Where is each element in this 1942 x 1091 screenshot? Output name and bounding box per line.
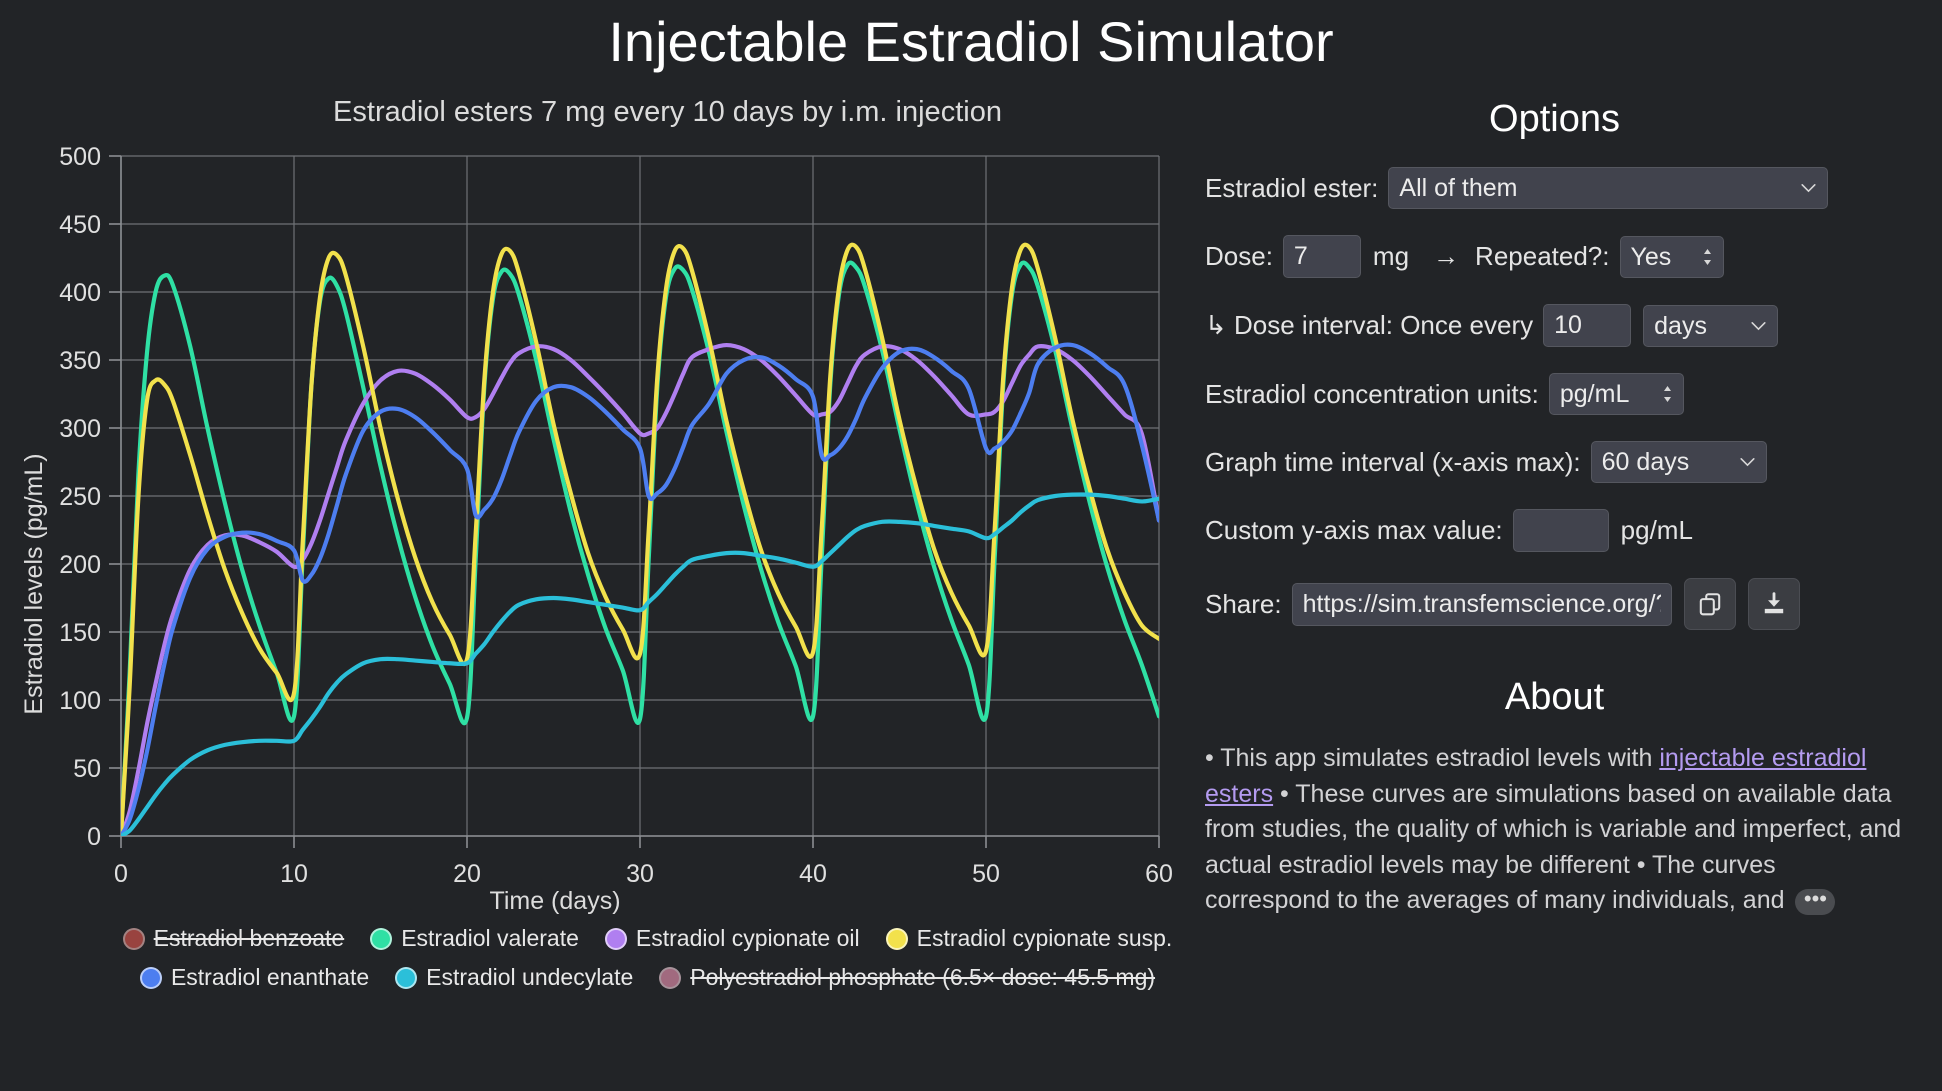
svg-text:20: 20 [453,860,481,888]
svg-text:150: 150 [59,619,101,647]
time-interval-select-wrap: 60 days [1591,441,1767,483]
dose-input[interactable] [1283,235,1361,278]
svg-text:10: 10 [280,860,308,888]
repeated-select[interactable]: Yes [1620,236,1724,278]
custom-ymax-input[interactable] [1513,509,1609,552]
chart-gridlines [121,156,1159,836]
svg-text:300: 300 [59,415,101,443]
x-axis-label: Time (days) [489,887,620,915]
custom-ymax-unit-label: pg/mL [1621,515,1693,546]
download-icon [1761,591,1787,617]
svg-text:50: 50 [73,755,101,783]
chart-title: Estradiol esters 7 mg every 10 days by i… [0,96,1205,129]
estradiol-levels-chart: 0501001502002503003504004505000102030405… [0,129,1205,919]
about-heading: About [1205,676,1904,719]
legend-color-swatch [140,967,162,989]
dose-label: Dose: [1205,241,1273,272]
about-text-part-1: • This app simulates estradiol levels wi… [1205,744,1659,772]
options-column: Options Estradiol ester: All of them Dos… [1205,74,1942,919]
download-image-button[interactable] [1748,578,1800,630]
estradiol-ester-select[interactable]: All of them [1388,167,1828,209]
legend-label: Estradiol cypionate susp. [917,925,1173,952]
interval-unit-select-wrap: days [1643,305,1778,347]
legend-color-swatch [123,928,145,950]
chart-legend: Estradiol benzoateEstradiol valerateEstr… [0,919,1205,991]
option-row-ester: Estradiol ester: All of them [1205,167,1904,209]
legend-item[interactable]: Estradiol undecylate [395,964,633,991]
share-label: Share: [1205,589,1282,620]
legend-color-swatch [659,967,681,989]
legend-label: Estradiol enanthate [171,964,369,991]
copy-icon [1697,591,1723,617]
svg-text:40: 40 [799,860,827,888]
chart-area: 0501001502002503003504004505000102030405… [0,129,1205,919]
repeated-select-wrap: Yes [1620,236,1724,278]
share-url-input[interactable] [1292,583,1672,626]
legend-color-swatch [395,967,417,989]
graph-time-interval-select[interactable]: 60 days [1591,441,1767,483]
dose-unit-label: mg [1373,241,1409,272]
ester-select-wrap: All of them [1388,167,1828,209]
svg-text:60: 60 [1145,860,1173,888]
dose-interval-unit-select[interactable]: days [1643,305,1778,347]
svg-text:350: 350 [59,347,101,375]
option-row-units: Estradiol concentration units: pg/mL [1205,373,1904,415]
main-layout: Estradiol esters 7 mg every 10 days by i… [0,74,1942,1003]
legend-item[interactable]: Polyestradiol phosphate (6.5× dose: 45.5… [659,964,1155,991]
legend-label: Estradiol cypionate oil [636,925,860,952]
legend-item[interactable]: Estradiol benzoate [123,925,345,952]
dose-interval-label: ↳ Dose interval: Once every [1205,310,1533,341]
svg-text:0: 0 [87,823,101,851]
legend-item[interactable]: Estradiol valerate [370,925,579,952]
svg-text:30: 30 [626,860,654,888]
legend-color-swatch [370,928,392,950]
option-row-time-interval: Graph time interval (x-axis max): 60 day… [1205,441,1904,483]
graph-time-interval-label: Graph time interval (x-axis max): [1205,447,1581,478]
ester-label: Estradiol ester: [1205,173,1378,204]
svg-text:0: 0 [114,860,128,888]
option-row-ymax: Custom y-axis max value: pg/mL [1205,509,1904,552]
option-row-dose: Dose: mg → Repeated?: Yes [1205,235,1904,278]
about-text: • This app simulates estradiol levels wi… [1205,741,1904,919]
svg-text:450: 450 [59,211,101,239]
chart-column: Estradiol esters 7 mg every 10 days by i… [0,74,1205,1003]
y-axis-label: Estradiol levels (pg/mL) [20,454,48,715]
about-expand-button[interactable]: ••• [1795,889,1835,915]
legend-label: Polyestradiol phosphate (6.5× dose: 45.5… [690,964,1155,991]
chart-axes [109,156,1159,848]
app-root: Injectable Estradiol Simulator Estradiol… [0,0,1942,1091]
page-title: Injectable Estradiol Simulator [0,0,1942,74]
svg-text:400: 400 [59,279,101,307]
dose-arrow-icon: → [1433,241,1459,272]
svg-text:100: 100 [59,687,101,715]
option-row-share: Share: [1205,578,1904,630]
concentration-units-select[interactable]: pg/mL [1549,373,1684,415]
legend-label: Estradiol valerate [401,925,579,952]
legend-item[interactable]: Estradiol cypionate oil [605,925,860,952]
options-heading: Options [1205,98,1904,141]
svg-text:50: 50 [972,860,1000,888]
units-select-wrap: pg/mL [1549,373,1684,415]
repeated-label: Repeated?: [1475,241,1609,272]
legend-color-swatch [605,928,627,950]
copy-link-button[interactable] [1684,578,1736,630]
option-row-interval: ↳ Dose interval: Once every days [1205,304,1904,347]
legend-label: Estradiol benzoate [154,925,345,952]
concentration-units-label: Estradiol concentration units: [1205,379,1539,410]
svg-text:200: 200 [59,551,101,579]
legend-item[interactable]: Estradiol cypionate susp. [886,925,1173,952]
svg-text:250: 250 [59,483,101,511]
legend-item[interactable]: Estradiol enanthate [140,964,369,991]
legend-row: Estradiol benzoateEstradiol valerateEstr… [90,925,1205,952]
dose-interval-input[interactable] [1543,304,1631,347]
legend-label: Estradiol undecylate [426,964,633,991]
svg-text:500: 500 [59,143,101,171]
legend-color-swatch [886,928,908,950]
legend-row: Estradiol enanthateEstradiol undecylateP… [90,964,1205,991]
custom-ymax-label: Custom y-axis max value: [1205,515,1503,546]
